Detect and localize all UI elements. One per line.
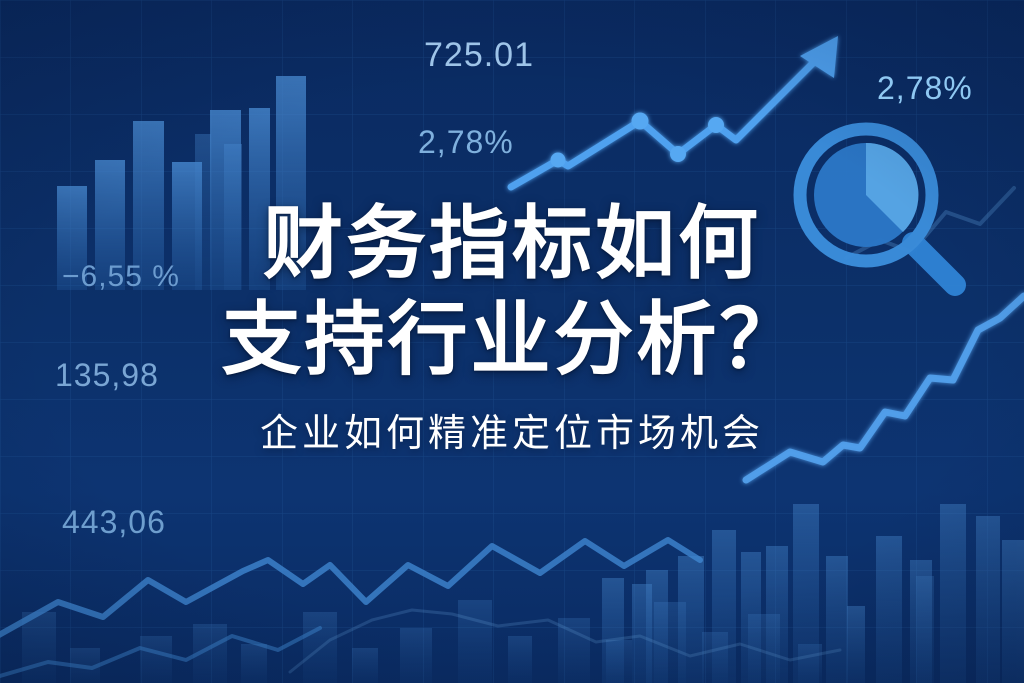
metric-label-percent-right: 2,78% bbox=[877, 70, 973, 107]
metric-label-443-06: 443,06 bbox=[62, 504, 166, 541]
page-title-line-1: 财务指标如何 bbox=[0, 196, 1024, 292]
hero-text-block: 财务指标如何 支持行业分析？ 企业如何精准定位市场机会 bbox=[0, 196, 1024, 458]
page-subtitle: 企业如何精准定位市场机会 bbox=[0, 410, 1024, 458]
metric-label-725: 725.01 bbox=[424, 36, 534, 75]
page-title-line-2: 支持行业分析？ bbox=[0, 292, 1024, 388]
metric-label-percent-left: 2,78% bbox=[418, 124, 514, 161]
poster-canvas: 725.01 2,78% 2,78% −6,55 % 135,98 443,06… bbox=[0, 0, 1024, 683]
